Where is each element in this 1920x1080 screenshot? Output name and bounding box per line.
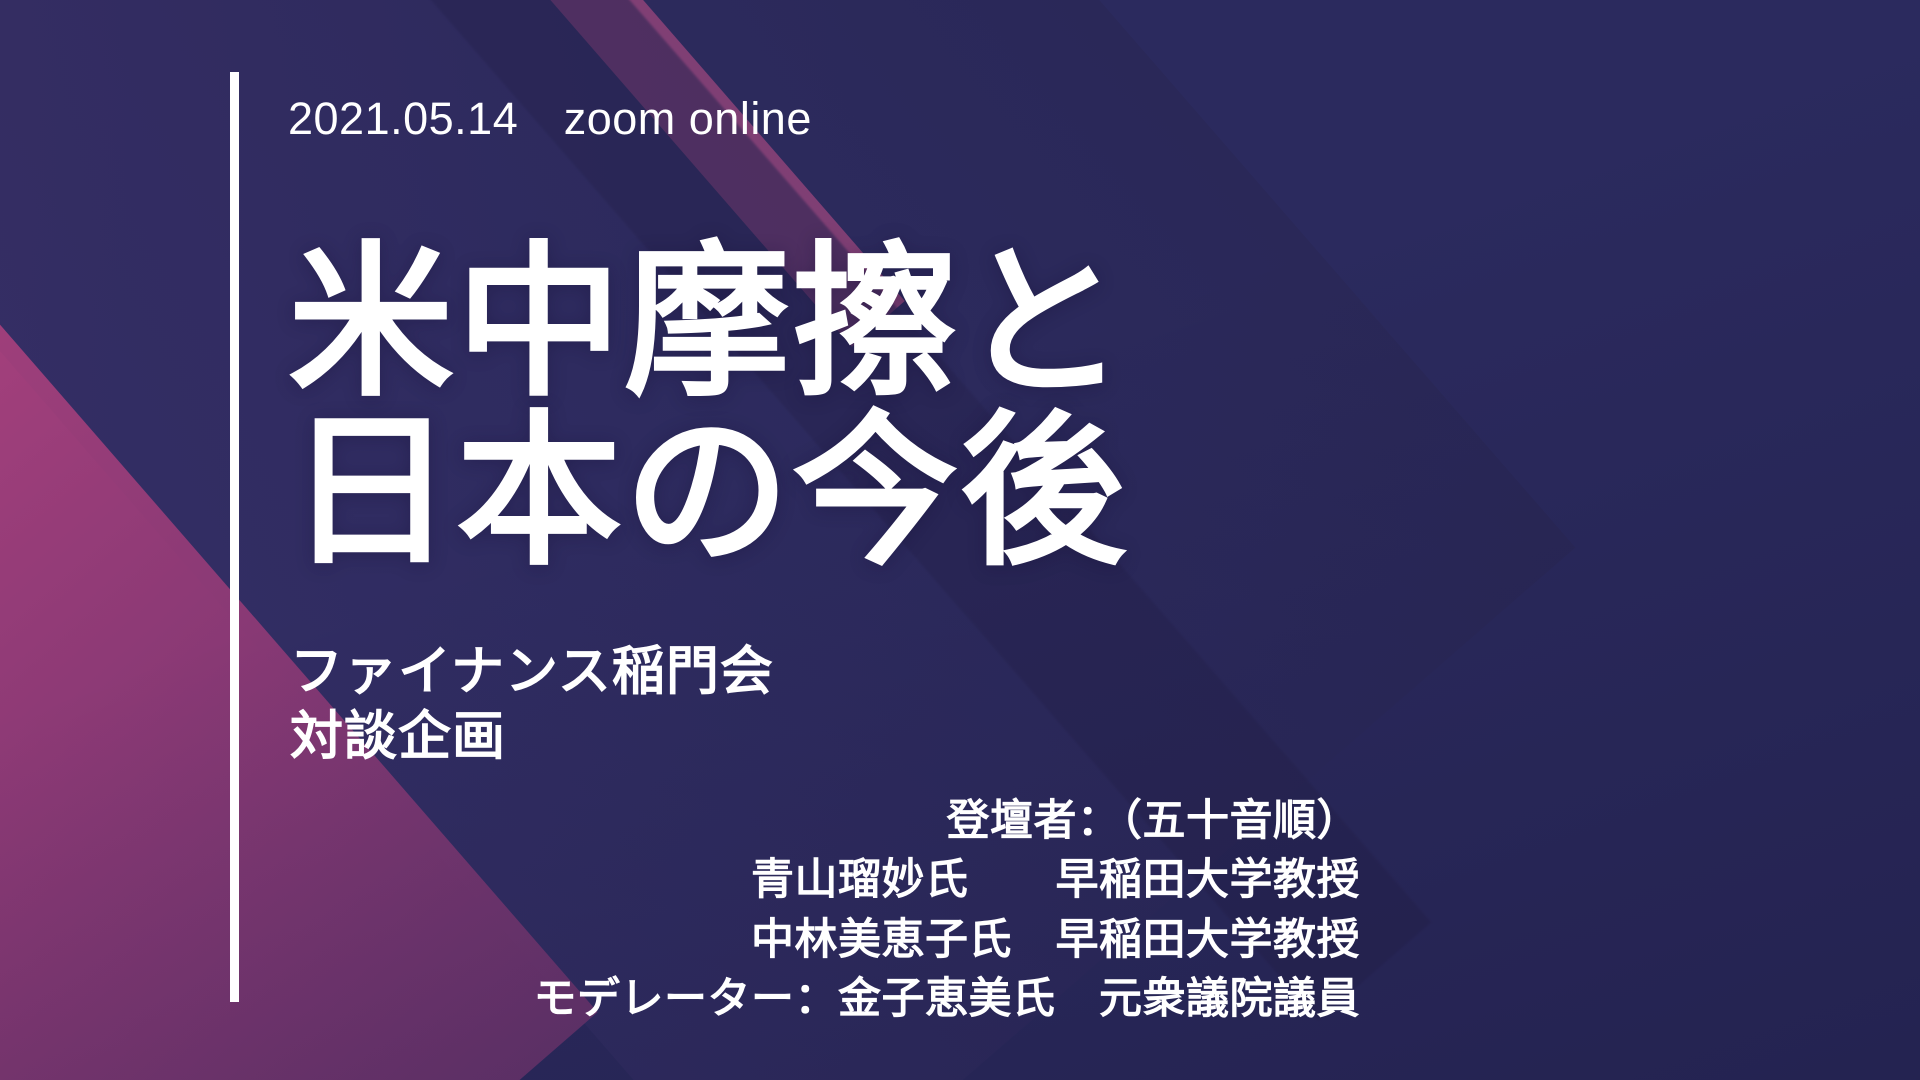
slide-content: 2021.05.14 zoom online 米中摩擦と 日本の今後 ファイナン…	[0, 0, 1920, 1080]
title-line-1: 米中摩擦と	[288, 240, 1128, 409]
subtitle-line-2: 対談企画	[290, 705, 774, 770]
title-line-2: 日本の今後	[288, 409, 1128, 578]
list-item: 中林美恵子氏 早稲田大学教授	[460, 911, 1360, 970]
speaker-list-heading: 登壇者：（五十音順）	[460, 792, 1360, 851]
subtitle-line-1: ファイナンス稲門会	[290, 640, 774, 705]
list-item: モデレーター：金子恵美氏 元衆議院議員	[460, 970, 1360, 1029]
list-item: 青山瑠妙氏 早稲田大学教授	[460, 851, 1360, 910]
slide-canvas: 2021.05.14 zoom online 米中摩擦と 日本の今後 ファイナン…	[0, 0, 1920, 1080]
speaker-list: 登壇者：（五十音順） 青山瑠妙氏 早稲田大学教授 中林美恵子氏 早稲田大学教授 …	[460, 792, 1360, 1029]
page-subtitle: ファイナンス稲門会 対談企画	[290, 640, 774, 769]
page-title: 米中摩擦と 日本の今後	[288, 240, 1128, 579]
event-date-and-venue: 2021.05.14 zoom online	[288, 82, 812, 147]
